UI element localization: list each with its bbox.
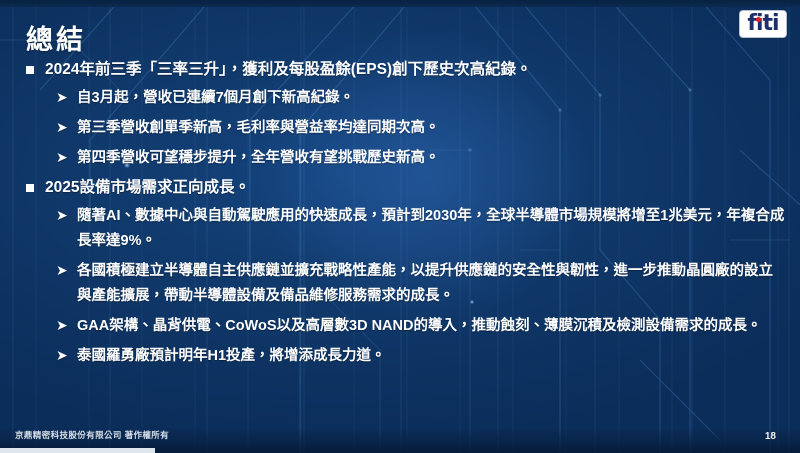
footer-copyright: 京鼎精密科技股份有限公司 著作權所有 (15, 429, 169, 441)
square-bullet-icon (26, 66, 34, 74)
list-item: 2025設備市場需求正向成長。 (26, 176, 786, 199)
list-item: ➤ 泰國羅勇廠預計明年H1投產，將增添成長力道。 (56, 344, 786, 369)
arrow-bullet-icon: ➤ (56, 146, 69, 170)
fiti-logo-icon: fiti (740, 11, 786, 37)
list-item: ➤ GAA架構、晶背供電、CoWoS以及高層數3D NAND的導入，推動蝕刻、薄… (56, 314, 786, 339)
arrow-bullet-icon: ➤ (56, 344, 69, 368)
arrow-bullet-icon: ➤ (56, 314, 69, 338)
logo-wordmark: fiti (747, 11, 778, 36)
list-item-text: 2024年前三季「三率三升」，獲利及每股盈餘(EPS)創下歷史次高紀錄。 (45, 58, 786, 81)
arrow-bullet-icon: ➤ (56, 116, 69, 140)
square-bullet-icon (26, 184, 34, 192)
page-number: 18 (765, 431, 776, 442)
bullet-list: 2024年前三季「三率三升」，獲利及每股盈餘(EPS)創下歷史次高紀錄。 ➤ 自… (26, 58, 786, 374)
logo-red-dot (756, 17, 761, 22)
list-item-text: GAA架構、晶背供電、CoWoS以及高層數3D NAND的導入，推動蝕刻、薄膜沉… (77, 314, 786, 339)
top-edge-strip (0, 0, 800, 7)
bottom-progress-bar[interactable] (0, 448, 155, 453)
list-item-text: 自3月起，營收已連續7個月創下新高紀錄。 (77, 86, 786, 111)
arrow-bullet-icon: ➤ (56, 204, 69, 228)
list-item-text: 第四季營收可望穩步提升，全年營收有望挑戰歷史新高。 (77, 146, 786, 171)
list-item: ➤ 隨著AI、數據中心與自動駕駛應用的快速成長，預計到2030年，全球半導體市場… (56, 204, 786, 254)
list-item: ➤ 第四季營收可望穩步提升，全年營收有望挑戰歷史新高。 (56, 146, 786, 171)
list-item-text: 隨著AI、數據中心與自動駕駛應用的快速成長，預計到2030年，全球半導體市場規模… (77, 204, 786, 254)
list-item: 2024年前三季「三率三升」，獲利及每股盈餘(EPS)創下歷史次高紀錄。 (26, 58, 786, 81)
page-title: 總結 (26, 18, 86, 57)
presentation-slide: fiti 總結 2024年前三季「三率三升」，獲利及每股盈餘(EPS)創下歷史次… (0, 0, 800, 453)
list-item: ➤ 自3月起，營收已連續7個月創下新高紀錄。 (56, 86, 786, 111)
list-item-text: 泰國羅勇廠預計明年H1投產，將增添成長力道。 (77, 344, 786, 369)
list-item-text: 第三季營收創單季新高，毛利率與營益率均達同期次高。 (77, 116, 786, 141)
list-item-text: 2025設備市場需求正向成長。 (45, 176, 786, 199)
arrow-bullet-icon: ➤ (56, 259, 69, 283)
arrow-bullet-icon: ➤ (56, 86, 69, 110)
list-item: ➤ 第三季營收創單季新高，毛利率與營益率均達同期次高。 (56, 116, 786, 141)
list-item: ➤ 各國積極建立半導體自主供應鏈並擴充戰略性產能，以提升供應鏈的安全性與韌性，進… (56, 259, 786, 309)
list-item-text: 各國積極建立半導體自主供應鏈並擴充戰略性產能，以提升供應鏈的安全性與韌性，進一步… (77, 259, 786, 309)
